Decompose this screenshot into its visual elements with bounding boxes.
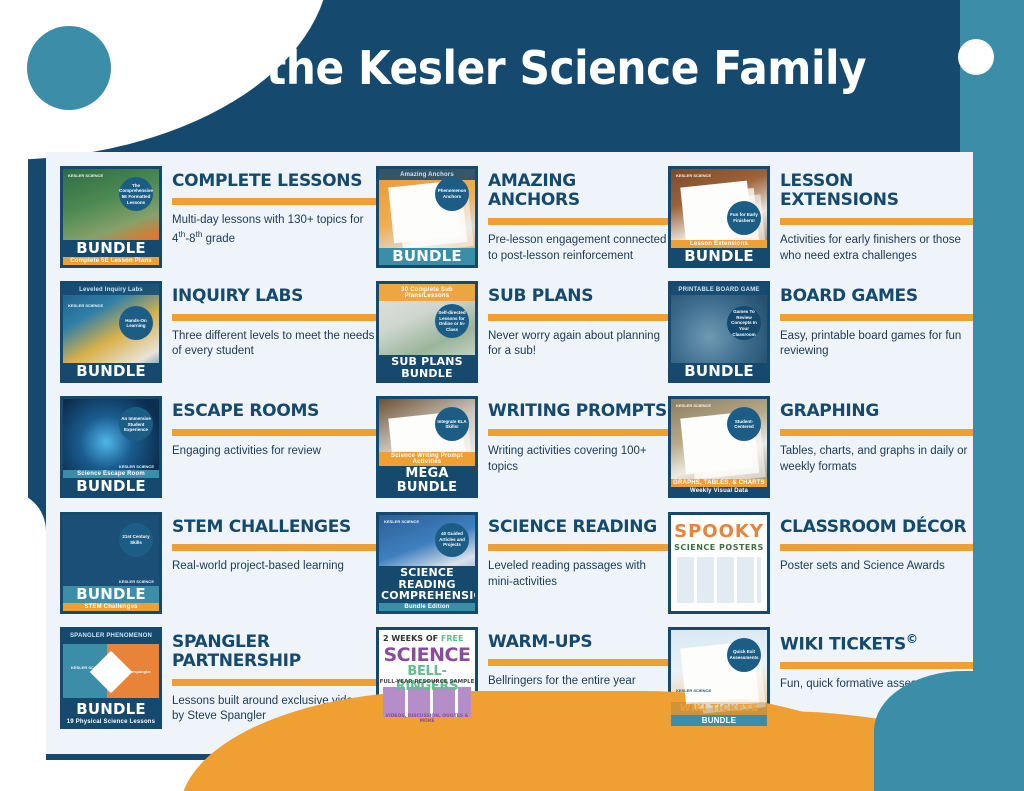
product-item-stem-challenges[interactable]: 21st Century Skills KESLER SCIENCE BUNDL… (60, 512, 376, 627)
thumbnail-inquiry-labs: Leveled Inquiry Labs KESLER SCIENCE Hand… (60, 281, 162, 383)
thumbnail-sub-band: STEM Challenges (63, 603, 159, 611)
badge-icon: Hands-On Learning (119, 306, 153, 340)
thumbnail-bundle-band: BUNDLE (63, 701, 159, 718)
product-title: SCIENCE READING (488, 518, 668, 537)
orange-rule (172, 198, 376, 205)
product-description: Bellringers for the entire year (488, 674, 668, 690)
kesler-science-logo-icon: KESLER SCIENCE (68, 304, 103, 308)
product-title: INQUIRY LABS (172, 287, 376, 306)
orange-rule (488, 429, 668, 436)
kesler-science-logo-icon: KESLER SCIENCE (676, 689, 711, 693)
warmup-line4: FULL-YEAR RESOURCE SAMPLE (379, 679, 475, 685)
thumbnail-bundle-band: BUNDLE (671, 248, 767, 265)
orange-rule (780, 314, 973, 321)
poster-title-text: SPOOKY (671, 521, 767, 542)
product-title: CLASSROOM DÉCOR (780, 518, 973, 537)
product-description: Multi-day lessons with 130+ topics for 4… (172, 213, 376, 248)
product-description: Engaging activities for review (172, 444, 376, 460)
thumbnail-bundle-band: BUNDLE (63, 363, 159, 380)
thumbnail-bundle-band: BUNDLE (671, 363, 767, 380)
thumbnail-top-band: 30 Complete Sub Plans/Lessons (379, 284, 475, 301)
thumbnail-warm-ups: 2 WEEKS OF FREE SCIENCE BELL-RINGERS FUL… (376, 627, 478, 729)
orange-rule (488, 544, 668, 551)
product-item-classroom-decor[interactable]: SPOOKY SCIENCE POSTERS CLASSROOM DÉCOR P… (668, 512, 973, 627)
product-text-lesson-extensions: LESSON EXTENSIONS Activities for early f… (780, 166, 973, 264)
product-text-board-games: BOARD GAMES Easy, printable board games … (780, 281, 973, 360)
kesler-science-logo-icon: KESLER SCIENCE (384, 520, 419, 524)
kesler-science-logo-icon: KESLER SCIENCE (119, 580, 154, 584)
product-description: Writing activities covering 100+ topics (488, 444, 668, 476)
product-item-graphing[interactable]: KESLER SCIENCE Student-Centered GRAPHS, … (668, 396, 973, 511)
orange-rule (488, 218, 668, 225)
orange-rule (172, 429, 376, 436)
product-description: Never worry again about planning for a s… (488, 329, 668, 361)
poster-subtitle-text: SCIENCE POSTERS (671, 543, 767, 552)
product-text-science-reading: SCIENCE READING Leveled reading passages… (488, 512, 668, 591)
thumbnail-sub-band: Complete 5E Lesson Plans (63, 257, 159, 265)
warmup-line5: VIDEOS, DISCUSSION, QUOTES & MORE (379, 714, 475, 724)
thumbnail-sub-band: Bundle Edition (379, 603, 475, 611)
product-description: Easy, printable board games for fun revi… (780, 329, 973, 361)
thumbnail-complete-lessons: KESLER SCIENCE The Comprehensive 5E Form… (60, 166, 162, 268)
badge-icon: Phenomenon Anchors (435, 177, 469, 211)
orange-rule (780, 218, 973, 225)
white-circle-decoration (958, 39, 994, 75)
product-text-graphing: GRAPHING Tables, charts, and graphs in d… (780, 396, 973, 475)
thumbnail-stem-challenges: 21st Century Skills KESLER SCIENCE BUNDL… (60, 512, 162, 614)
poster-thumbnail-grid (677, 557, 761, 603)
thumbnail-sub-band: GRAPHS, TABLES, & CHARTS (671, 479, 767, 487)
badge-icon: Self-directed Lessons for Online or In-C… (435, 304, 469, 338)
steve-spangler-logo-icon: stevespangler (124, 670, 151, 674)
product-item-complete-lessons[interactable]: KESLER SCIENCE The Comprehensive 5E Form… (60, 166, 376, 281)
product-title: GRAPHING (780, 402, 973, 421)
orange-rule (780, 429, 973, 436)
product-title: LESSON EXTENSIONS (780, 172, 973, 211)
thumbnail-bundle-band: BUNDLE (671, 715, 767, 726)
thumbnail-bundle-band: BUNDLE (379, 248, 475, 265)
product-item-science-reading[interactable]: KESLER SCIENCE 40 Guided Articles and Pr… (376, 512, 668, 627)
product-description: Pre-lesson engagement connected to post-… (488, 233, 668, 265)
product-text-writing-prompts: WRITING PROMPTS Writing activities cover… (488, 396, 668, 475)
product-text-inquiry-labs: INQUIRY LABS Three different levels to m… (172, 281, 376, 360)
thumbnail-bundle-band: MEGA BUNDLE (379, 466, 475, 495)
badge-icon: Fun for Early Finishers! (727, 201, 761, 235)
product-description: Leveled reading passages with mini-activ… (488, 559, 668, 591)
thumbnail-graphing: KESLER SCIENCE Student-Centered GRAPHS, … (668, 396, 770, 498)
thumbnail-sub-band: WIKI TICKETS (671, 702, 767, 715)
background-white-left-lower (0, 491, 46, 791)
product-item-lesson-extensions[interactable]: KESLER SCIENCE Fun for Early Finishers! … (668, 166, 973, 281)
thumbnail-bundle-band: SCIENCE READING COMPREHENSION (379, 566, 475, 603)
thumbnail-top-band: SPANGLER PHENOMENON (63, 630, 159, 641)
product-title: WARM-UPS (488, 633, 668, 652)
product-description: Activities for early finishers or those … (780, 233, 973, 265)
product-item-board-games[interactable]: PRINTABLE BOARD GAME Games To Review Con… (668, 281, 973, 396)
badge-icon: 40 Guided Articles and Projects (435, 523, 469, 557)
orange-rule (488, 314, 668, 321)
product-description: Real-world project-based learning (172, 559, 376, 575)
product-title: BOARD GAMES (780, 287, 973, 306)
kesler-science-logo-icon: KESLER SCIENCE (71, 666, 106, 670)
orange-rule (780, 544, 973, 551)
product-title: COMPLETE LESSONS (172, 172, 376, 191)
kesler-science-logo-icon: KESLER SCIENCE (676, 174, 711, 178)
kesler-science-logo-icon: KESLER SCIENCE (119, 465, 154, 469)
product-panel: KESLER SCIENCE The Comprehensive 5E Form… (46, 152, 973, 754)
product-text-escape-rooms: ESCAPE ROOMS Engaging activities for rev… (172, 396, 376, 459)
product-text-amazing-anchors: AMAZING ANCHORS Pre-lesson engagement co… (488, 166, 668, 264)
product-text-classroom-decor: CLASSROOM DÉCOR Poster sets and Science … (780, 512, 973, 575)
badge-icon: Quick Exit Assessments (727, 638, 761, 672)
product-text-sub-plans: SUB PLANS Never worry again about planni… (488, 281, 668, 360)
product-text-stem-challenges: STEM CHALLENGES Real-world project-based… (172, 512, 376, 575)
thumbnail-sub-plans: 30 Complete Sub Plans/Lessons Self-direc… (376, 281, 478, 383)
product-title: AMAZING ANCHORS (488, 172, 668, 211)
badge-icon: Games To Review Concepts In Your Classro… (727, 306, 761, 340)
copyright-icon: © (906, 632, 918, 646)
product-item-escape-rooms[interactable]: An Immersive Student Experience KESLER S… (60, 396, 376, 511)
orange-rule (488, 659, 668, 666)
thumbnail-science-reading: KESLER SCIENCE 40 Guided Articles and Pr… (376, 512, 478, 614)
thumbnail-spangler-partnership: SPANGLER PHENOMENON KESLER SCIENCE steve… (60, 627, 162, 729)
product-title: SUB PLANS (488, 287, 668, 306)
thumbnail-escape-rooms: An Immersive Student Experience KESLER S… (60, 396, 162, 498)
product-title: STEM CHALLENGES (172, 518, 376, 537)
thumbnail-bundle-band: BUNDLE (63, 478, 159, 495)
product-text-warm-ups: WARM-UPS Bellringers for the entire year (488, 627, 668, 690)
product-grid: KESLER SCIENCE The Comprehensive 5E Form… (46, 152, 973, 754)
thumbnail-board-games: PRINTABLE BOARD GAME Games To Review Con… (668, 281, 770, 383)
orange-rule (172, 679, 376, 686)
product-title: WIKI TICKETS© (780, 633, 973, 655)
orange-rule (172, 314, 376, 321)
thumbnail-bundle-band: SUB PLANS BUNDLE (379, 355, 475, 380)
thumbnail-top-band: PRINTABLE BOARD GAME (671, 284, 767, 295)
product-description: Poster sets and Science Awards (780, 559, 973, 575)
warmup-line2: SCIENCE (379, 644, 475, 666)
thumbnail-lesson-extensions: KESLER SCIENCE Fun for Early Finishers! … (668, 166, 770, 268)
thumbnail-bundle-band: BUNDLE (63, 240, 159, 257)
badge-icon: 21st Century Skills (119, 523, 153, 557)
product-title: WRITING PROMPTS (488, 402, 668, 421)
product-text-complete-lessons: COMPLETE LESSONS Multi-day lessons with … (172, 166, 376, 248)
product-item-amazing-anchors[interactable]: Amazing Anchors Phenomenon Anchors BUNDL… (376, 166, 668, 281)
product-description: Three different levels to meet the needs… (172, 329, 376, 361)
product-title: ESCAPE ROOMS (172, 402, 376, 421)
thumbnail-wiki-tickets: KESLER SCIENCE Quick Exit Assessments WI… (668, 627, 770, 729)
thumbnail-sub-band: 19 Physical Science Lessons (63, 718, 159, 726)
kesler-science-logo-icon: KESLER SCIENCE (68, 174, 103, 178)
kesler-science-logo-icon: KESLER SCIENCE (676, 404, 711, 408)
thumbnail-bundle-band: Weekly Visual Data (671, 487, 767, 495)
product-item-writing-prompts[interactable]: Integrate ELA Skills! Science Writing Pr… (376, 396, 668, 511)
warmup-line1: 2 WEEKS OF FREE (383, 634, 471, 643)
product-item-inquiry-labs[interactable]: Leveled Inquiry Labs KESLER SCIENCE Hand… (60, 281, 376, 396)
thumbnail-top-band: Leveled Inquiry Labs (63, 284, 159, 295)
poster-canvas: Meet the Kesler Science Family KESLER SC… (0, 0, 1024, 791)
product-description: Tables, charts, and graphs in daily or w… (780, 444, 973, 476)
badge-icon: The Comprehensive 5E Formatted Lessons (119, 177, 153, 211)
thumbnail-writing-prompts: Integrate ELA Skills! Science Writing Pr… (376, 396, 478, 498)
product-item-sub-plans[interactable]: 30 Complete Sub Plans/Lessons Self-direc… (376, 281, 668, 396)
thumbnail-classroom-decor: SPOOKY SCIENCE POSTERS (668, 512, 770, 614)
orange-rule (780, 662, 973, 669)
page-title: Meet the Kesler Science Family (40, 44, 960, 92)
thumbnail-bundle-band: BUNDLE (63, 586, 159, 603)
product-title: SPANGLER PARTNERSHIP (172, 633, 376, 672)
thumbnail-amazing-anchors: Amazing Anchors Phenomenon Anchors BUNDL… (376, 166, 478, 268)
thumbnail-sub-band: Science Writing Prompt Activities (379, 452, 475, 466)
orange-rule (172, 544, 376, 551)
